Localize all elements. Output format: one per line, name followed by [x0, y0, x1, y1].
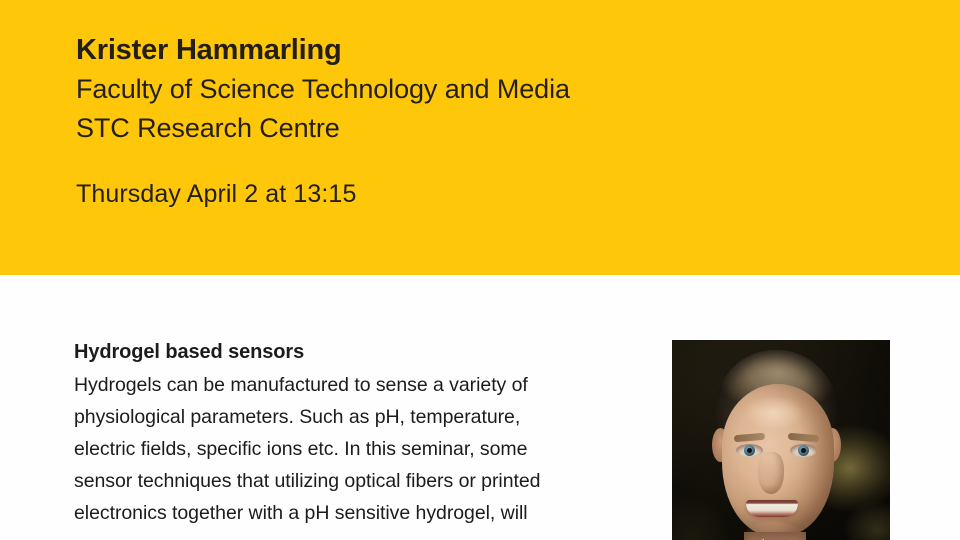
portrait-iris-left: [744, 445, 755, 456]
abstract-title: Hydrogel based sensors: [74, 336, 634, 368]
portrait-photo-canvas: [672, 340, 890, 540]
header-band: Krister Hammarling Faculty of Science Te…: [0, 0, 960, 275]
seminar-poster: Krister Hammarling Faculty of Science Te…: [0, 0, 960, 540]
speaker-name: Krister Hammarling: [76, 31, 570, 70]
event-datetime: Thursday April 2 at 13:15: [76, 177, 356, 211]
abstract-line: physiological parameters. Such as pH, te…: [74, 401, 634, 433]
portrait-eye-left: [736, 444, 763, 457]
speaker-block: Krister Hammarling Faculty of Science Te…: [76, 31, 570, 148]
speaker-affiliation-centre: STC Research Centre: [76, 109, 570, 148]
portrait-iris-right: [798, 445, 809, 456]
portrait-nose: [758, 452, 784, 494]
speaker-portrait-photo: [672, 340, 890, 540]
abstract-line: Hydrogels can be manufactured to sense a…: [74, 369, 634, 401]
abstract-body: Hydrogels can be manufactured to sense a…: [74, 369, 634, 529]
portrait-pupil-left: [747, 448, 752, 453]
abstract-line: electric fields, specific ions etc. In t…: [74, 433, 634, 465]
portrait-eye-right: [790, 444, 817, 457]
portrait-pupil-right: [801, 448, 806, 453]
portrait-forehead-highlight: [744, 396, 804, 430]
abstract-block: Hydrogel based sensors Hydrogels can be …: [74, 336, 634, 529]
abstract-line: electronics together with a pH sensitive…: [74, 497, 634, 529]
abstract-line: sensor techniques that utilizing optical…: [74, 465, 634, 497]
portrait-mouth: [746, 500, 798, 517]
speaker-affiliation-faculty: Faculty of Science Technology and Media: [76, 70, 570, 109]
portrait-neck: [744, 532, 806, 540]
